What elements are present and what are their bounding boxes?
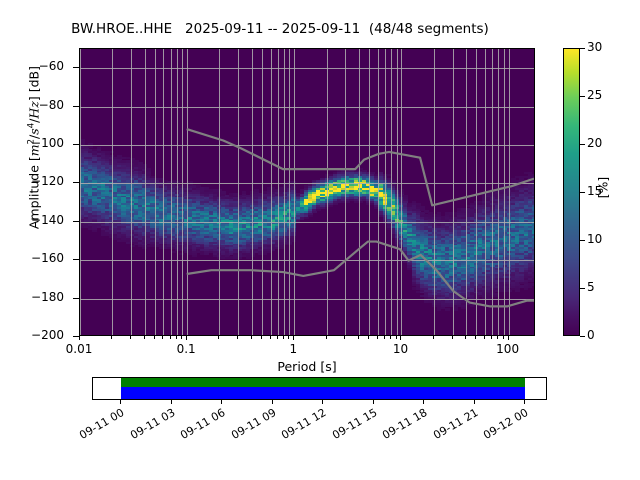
timeline-tick-label: 09-11 06 bbox=[169, 406, 227, 447]
x-tick-minor bbox=[154, 336, 155, 339]
timeline-tick bbox=[524, 400, 525, 404]
data-coverage-timeline bbox=[92, 377, 547, 400]
timeline-tick-label: 09-11 18 bbox=[371, 406, 429, 447]
x-tick-label: 10 bbox=[370, 342, 430, 356]
data-coverage-green bbox=[121, 378, 525, 387]
colorbar-tick bbox=[580, 48, 585, 49]
x-tick-minor bbox=[433, 336, 434, 339]
noise-model-curves bbox=[80, 49, 534, 335]
colorbar bbox=[563, 48, 580, 336]
colorbar-tick bbox=[580, 336, 585, 337]
y-tick bbox=[73, 221, 79, 222]
colorbar-tick-label: 0 bbox=[587, 328, 595, 342]
colorbar-tick-label: 30 bbox=[587, 40, 602, 54]
timeline-tick bbox=[322, 400, 323, 404]
x-tick-major bbox=[79, 336, 80, 340]
y-tick bbox=[73, 182, 79, 183]
timeline-tick bbox=[272, 400, 273, 404]
timeline-tick-label: 09-11 15 bbox=[321, 406, 379, 447]
timeline-tick bbox=[171, 400, 172, 404]
nhnm-curve bbox=[187, 129, 534, 205]
y-tick bbox=[73, 259, 79, 260]
timeline-tick bbox=[120, 400, 121, 404]
ppsd-plot-area bbox=[79, 48, 535, 336]
x-tick-minor bbox=[170, 336, 171, 339]
timeline-tick-label: 09-11 03 bbox=[119, 406, 177, 447]
x-tick-minor bbox=[237, 336, 238, 339]
colorbar-tick bbox=[580, 96, 585, 97]
colorbar-tick-label: 25 bbox=[587, 88, 602, 102]
x-tick-minor bbox=[358, 336, 359, 339]
x-tick-major bbox=[293, 336, 294, 340]
timeline-tick-label: 09-12 00 bbox=[472, 406, 530, 447]
x-tick-minor bbox=[251, 336, 252, 339]
x-tick-minor bbox=[475, 336, 476, 339]
timeline-tick-label: 09-11 00 bbox=[68, 406, 126, 447]
x-tick-major bbox=[400, 336, 401, 340]
colorbar-tick bbox=[580, 288, 585, 289]
timeline-tick-label: 09-11 21 bbox=[422, 406, 480, 447]
x-tick-minor bbox=[162, 336, 163, 339]
y-tick-label: −200 bbox=[0, 328, 64, 342]
x-tick-minor bbox=[270, 336, 271, 339]
x-tick-minor bbox=[465, 336, 466, 339]
x-tick-major bbox=[186, 336, 187, 340]
timeline-tick bbox=[474, 400, 475, 404]
y-tick bbox=[73, 67, 79, 68]
x-tick-minor bbox=[484, 336, 485, 339]
x-tick-minor bbox=[181, 336, 182, 339]
timeline-tick bbox=[423, 400, 424, 404]
x-tick-minor bbox=[277, 336, 278, 339]
timeline-tick-label: 09-11 09 bbox=[220, 406, 278, 447]
x-tick-minor bbox=[396, 336, 397, 339]
colorbar-label: [%] bbox=[596, 128, 611, 248]
x-tick-minor bbox=[384, 336, 385, 339]
x-tick-minor bbox=[261, 336, 262, 339]
x-tick-minor bbox=[218, 336, 219, 339]
x-tick-minor bbox=[377, 336, 378, 339]
timeline-tick-label: 09-11 12 bbox=[270, 406, 328, 447]
x-tick-minor bbox=[130, 336, 131, 339]
x-tick-minor bbox=[111, 336, 112, 339]
x-tick-minor bbox=[503, 336, 504, 339]
x-tick-minor bbox=[368, 336, 369, 339]
x-tick-minor bbox=[283, 336, 284, 339]
x-tick-label: 100 bbox=[478, 342, 538, 356]
x-tick-major bbox=[508, 336, 509, 340]
colorbar-tick-label: 5 bbox=[587, 280, 595, 294]
page-title: BW.HROE..HHE 2025-09-11 -- 2025-09-11 (4… bbox=[0, 21, 560, 37]
y-tick bbox=[73, 298, 79, 299]
x-tick-minor bbox=[288, 336, 289, 339]
x-tick-minor bbox=[497, 336, 498, 339]
x-tick-minor bbox=[491, 336, 492, 339]
nlnm-curve bbox=[187, 242, 534, 307]
x-tick-minor bbox=[326, 336, 327, 339]
x-tick-minor bbox=[452, 336, 453, 339]
x-tick-label: 0.1 bbox=[156, 342, 216, 356]
colorbar-tick bbox=[580, 144, 585, 145]
x-tick-minor bbox=[144, 336, 145, 339]
x-axis-label: Period [s] bbox=[79, 359, 535, 374]
x-tick-label: 0.01 bbox=[49, 342, 109, 356]
x-tick-minor bbox=[344, 336, 345, 339]
y-tick bbox=[73, 106, 79, 107]
colorbar-tick bbox=[580, 192, 585, 193]
data-coverage-blue bbox=[121, 387, 525, 399]
timeline-tick bbox=[373, 400, 374, 404]
colorbar-tick bbox=[580, 240, 585, 241]
x-tick-minor bbox=[390, 336, 391, 339]
y-tick bbox=[73, 144, 79, 145]
x-tick-minor bbox=[176, 336, 177, 339]
x-tick-label: 1 bbox=[263, 342, 323, 356]
timeline-tick bbox=[221, 400, 222, 404]
y-axis-label: Amplitude [m2/s4/Hz] [dB] bbox=[26, 0, 41, 298]
